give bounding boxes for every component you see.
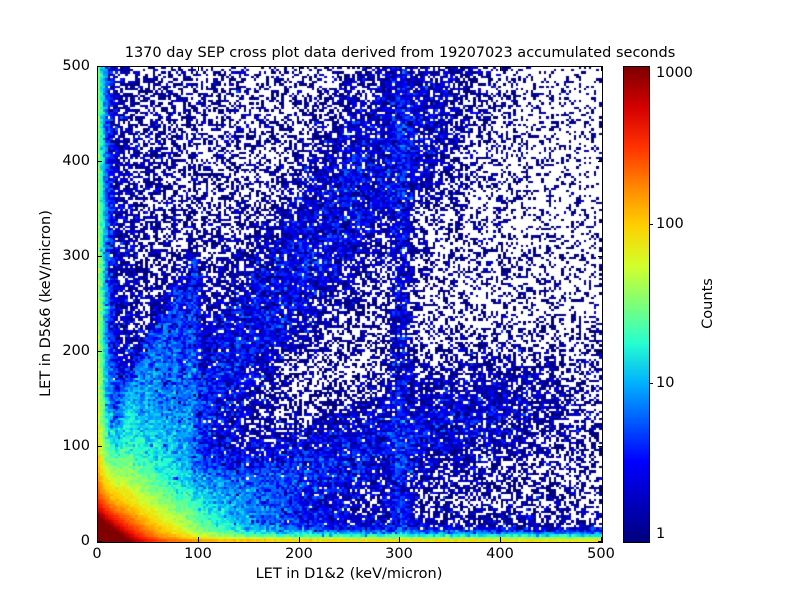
- y-tick-500: [97, 66, 102, 67]
- colorbar-ticklabel-10: 10: [656, 375, 674, 391]
- y-tick-200: [97, 351, 102, 352]
- plot-title-line-1: 1370 day SEP cross plot data derived fro…: [0, 44, 800, 62]
- x-tick-top-300: [399, 66, 400, 71]
- y-tick-right-200: [598, 351, 603, 352]
- plot-area[interactable]: [97, 66, 603, 543]
- colorbar-ticklabel-1000: 1000: [656, 65, 693, 81]
- heatmap-scatter-layer: [98, 67, 602, 542]
- y-tick-400: [97, 161, 102, 162]
- x-tick-400: [500, 537, 501, 542]
- x-ticklabel-200: 200: [285, 546, 313, 562]
- x-ticklabel-500: 500: [587, 546, 615, 562]
- y-tick-right-300: [598, 256, 603, 257]
- x-ticklabel-300: 300: [385, 546, 413, 562]
- y-tick-right-0: [598, 541, 603, 542]
- x-ticklabel-100: 100: [184, 546, 212, 562]
- x-tick-200: [299, 537, 300, 542]
- colorbar[interactable]: [623, 66, 650, 543]
- figure-canvas: 1370 day SEP cross plot data derived fro…: [0, 0, 800, 600]
- y-axis-label: LET in D5&6 (keV/micron): [38, 66, 58, 541]
- y-tick-right-400: [598, 161, 603, 162]
- y-tick-right-100: [598, 446, 603, 447]
- colorbar-tick-100: [649, 224, 653, 225]
- x-axis-label: LET in D1&2 (keV/micron): [97, 566, 601, 582]
- y-tick-0: [97, 541, 102, 542]
- x-tick-300: [399, 537, 400, 542]
- x-tick-top-200: [299, 66, 300, 71]
- colorbar-ticklabel-1: 1: [656, 526, 665, 542]
- x-tick-top-100: [198, 66, 199, 71]
- colorbar-ticklabel-100: 100: [656, 216, 684, 232]
- y-tick-300: [97, 256, 102, 257]
- colorbar-gradient: [624, 67, 649, 542]
- colorbar-label: Counts: [700, 66, 720, 541]
- x-ticklabel-0: 0: [92, 546, 101, 562]
- x-tick-100: [198, 537, 199, 542]
- y-tick-right-500: [598, 66, 603, 67]
- x-ticklabel-400: 400: [486, 546, 514, 562]
- x-tick-top-400: [500, 66, 501, 71]
- y-tick-100: [97, 446, 102, 447]
- colorbar-tick-10: [649, 383, 653, 384]
